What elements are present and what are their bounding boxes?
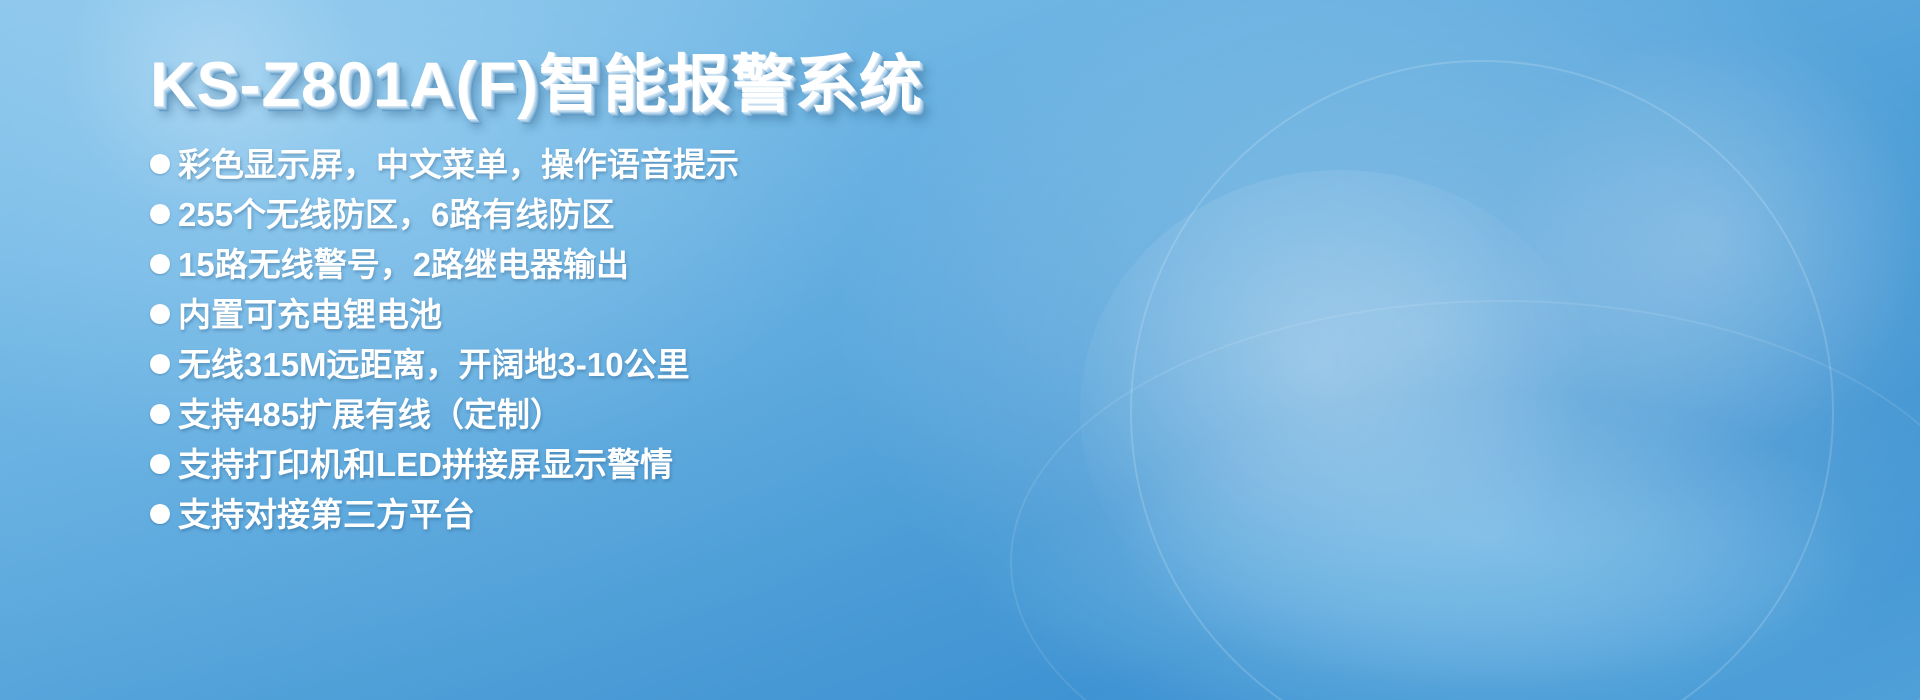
feature-text: 支持对接第三方平台	[178, 498, 475, 531]
feature-text: 支持打印机和LED拼接屏显示警情	[178, 448, 673, 481]
feature-text: 彩色显示屏，中文菜单，操作语音提示	[178, 148, 739, 181]
feature-text: 支持485扩展有线（定制）	[178, 398, 563, 431]
list-item: 255个无线防区，6路有线防区	[150, 190, 1030, 238]
bullet-dot-icon	[150, 454, 170, 474]
bullet-dot-icon	[150, 204, 170, 224]
bullet-dot-icon	[150, 404, 170, 424]
bullet-dot-icon	[150, 354, 170, 374]
feature-text: 15路无线警号，2路继电器输出	[178, 248, 629, 281]
feature-text: 255个无线防区，6路有线防区	[178, 198, 614, 231]
product-banner: KS-Z801A(F)智能报警系统 彩色显示屏，中文菜单，操作语音提示 255个…	[0, 0, 1920, 700]
feature-text: 内置可充电锂电池	[178, 298, 442, 331]
feature-text: 无线315M远距离，开阔地3-10公里	[178, 348, 690, 381]
list-item: 支持打印机和LED拼接屏显示警情	[150, 440, 1030, 488]
banner-copy: KS-Z801A(F)智能报警系统 彩色显示屏，中文菜单，操作语音提示 255个…	[150, 52, 1030, 540]
alarm-control-panel-image: ▼ ▮ 22:27 01-01-01 机器正常 电源 布防 故障 报警	[960, 0, 1920, 700]
list-item: 彩色显示屏，中文菜单，操作语音提示	[150, 140, 1030, 188]
bullet-dot-icon	[150, 504, 170, 524]
list-item: 无线315M远距离，开阔地3-10公里	[150, 340, 1030, 388]
bullet-dot-icon	[150, 254, 170, 274]
list-item: 15路无线警号，2路继电器输出	[150, 240, 1030, 288]
list-item: 内置可充电锂电池	[150, 290, 1030, 338]
page-title: KS-Z801A(F)智能报警系统	[150, 52, 1030, 118]
list-item: 支持对接第三方平台	[150, 490, 1030, 538]
list-item: 支持485扩展有线（定制）	[150, 390, 1030, 438]
bullet-dot-icon	[150, 154, 170, 174]
feature-list: 彩色显示屏，中文菜单，操作语音提示 255个无线防区，6路有线防区 15路无线警…	[150, 140, 1030, 538]
bullet-dot-icon	[150, 304, 170, 324]
